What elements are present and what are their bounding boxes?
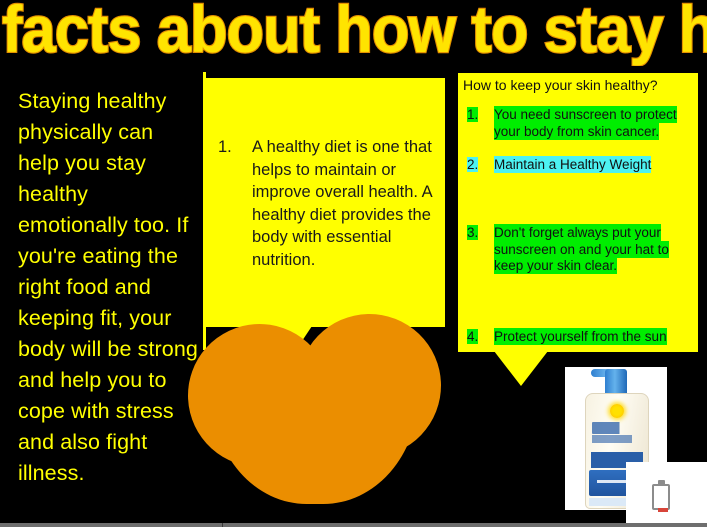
low-battery-icon xyxy=(652,480,673,512)
skin-item-text: Maintain a Healthy Weight xyxy=(494,157,695,174)
slide-canvas: facts about how to stay healthy? Staying… xyxy=(0,0,707,527)
skin-item-number: 3. xyxy=(467,225,494,275)
bottom-bar xyxy=(0,523,707,527)
skin-list-item-3: 3. Don't forget always put your sunscree… xyxy=(467,225,695,275)
page-title: facts about how to stay healthy? xyxy=(2,0,658,66)
skin-panel-heading: How to keep your skin healthy? xyxy=(463,76,658,94)
skin-panel-box: How to keep your skin healthy? 1. You ne… xyxy=(458,73,698,352)
skin-item-text: You need sunscreen to protect your body … xyxy=(494,107,695,140)
skin-item-number: 2. xyxy=(467,157,494,174)
bottle-subbrand-text xyxy=(592,435,632,443)
battery-overlay-panel xyxy=(626,462,707,527)
diet-item-number: 1. xyxy=(218,136,252,271)
diet-callout-box: 1. A healthy diet is one that helps to m… xyxy=(206,78,445,327)
intro-paragraph: Staying healthy physically can help you … xyxy=(18,86,200,489)
bottle-brand-text xyxy=(592,422,642,434)
heart-bottom-point xyxy=(212,368,418,504)
diet-item-text: A healthy diet is one that helps to main… xyxy=(252,136,437,271)
skin-list-item-4: 4. Protect yourself from the sun xyxy=(467,329,695,346)
skin-panel-tail xyxy=(494,351,548,386)
battery-shell xyxy=(652,484,670,510)
skin-list-item-2: 2. Maintain a Healthy Weight xyxy=(467,157,695,174)
sun-icon xyxy=(610,404,624,418)
title-banner: facts about how to stay healthy? xyxy=(0,0,707,66)
skin-item-text: Protect yourself from the sun xyxy=(494,329,695,346)
battery-level-indicator xyxy=(658,508,668,512)
bottom-bar-seam xyxy=(222,523,223,527)
heart-produce-image xyxy=(188,314,443,506)
produce-texture xyxy=(212,368,418,504)
bottle-cap xyxy=(605,369,627,393)
skin-item-number: 4. xyxy=(467,329,494,346)
skin-list-item-1: 1. You need sunscreen to protect your bo… xyxy=(467,107,695,140)
skin-item-text: Don't forget always put your sunscreen o… xyxy=(494,225,695,275)
diet-list-item: 1. A healthy diet is one that helps to m… xyxy=(218,136,437,271)
skin-item-number: 1. xyxy=(467,107,494,140)
